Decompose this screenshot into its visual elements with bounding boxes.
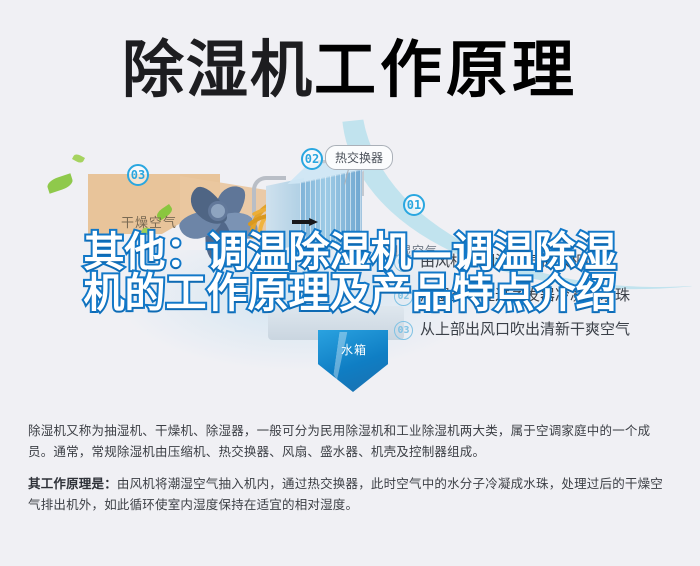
legend-badge-03: 03 <box>394 321 413 340</box>
hero-title-part-a: 除湿机 <box>122 33 314 106</box>
hero-title: 除湿机工作原理 <box>0 34 700 106</box>
paragraph-2: 其工作原理是：由风机将潮湿空气抽入机内，通过热交换器，此时空气中的水分子冷凝成水… <box>28 473 672 515</box>
paragraph-1: 除湿机又称为抽湿机、干燥机、除湿器，一般可分为民用除湿机和工业除湿机两大类，属于… <box>28 420 672 462</box>
diagram-badge-03: 03 <box>127 164 149 186</box>
article-body: 除湿机又称为抽湿机、干燥机、除湿器，一般可分为民用除湿机和工业除湿机两大类，属于… <box>0 404 700 566</box>
diagram-badge-02: 02 <box>301 148 323 170</box>
diagram-badge-01: 01 <box>403 194 425 216</box>
overlay-title: 其他：调温除湿机—调温除湿机的工作原理及产品特点介绍 <box>70 232 630 314</box>
heat-exchanger-callout: 热交换器 <box>325 145 393 170</box>
water-tank-label: 水箱 <box>330 341 378 358</box>
legend-item: 03 从上部出风口吹出清新干爽空气 <box>394 320 694 340</box>
paragraph-2-rest: 由风机将潮湿空气抽入机内，通过热交换器，此时空气中的水分子冷凝成水珠，处理过后的… <box>28 476 663 512</box>
hero-illustration: 除湿机工作原理 干燥空气 水箱 03 <box>0 0 700 404</box>
fan-hub <box>208 201 228 221</box>
legend-text-03: 从上部出风口吹出清新干爽空气 <box>420 320 630 339</box>
hero-title-part-b: 工作原理 <box>314 33 578 106</box>
paragraph-2-lead: 其工作原理是： <box>28 476 117 491</box>
leaf-icon <box>46 173 75 193</box>
water-tank-icon <box>318 330 388 392</box>
leaf-icon <box>72 153 85 164</box>
